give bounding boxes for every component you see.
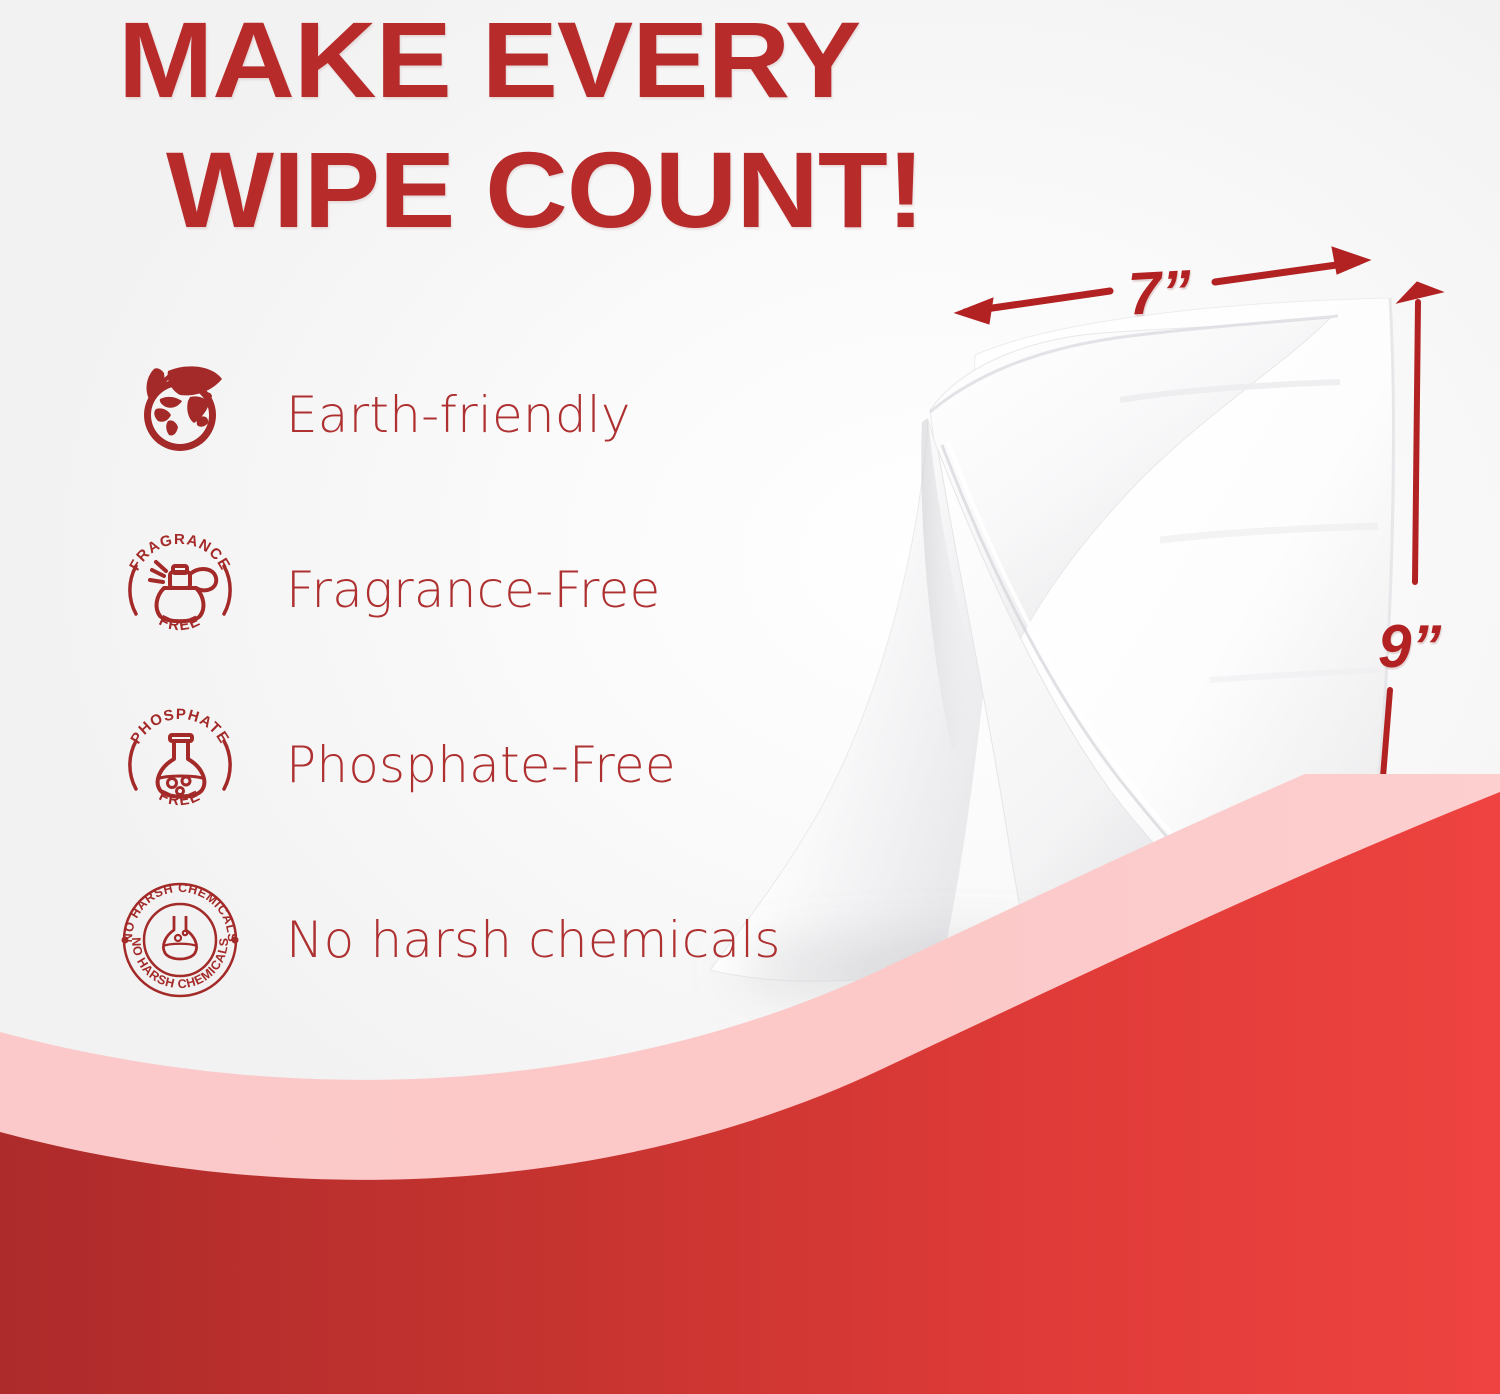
page-title: MAKE EVERY WIPE COUNT! [118,0,1128,244]
feature-label-no-harsh-chemicals: No harsh chemicals [286,911,781,969]
svg-text:NO HARSH CHEMICALS: NO HARSH CHEMICALS [121,881,239,943]
product-feature-graphic: MAKE EVERY WIPE COUNT! [0,0,1500,1394]
phosphate-badge-bottom-text: FREE [156,787,203,809]
fragrance-badge-bottom-text: FREE [156,612,203,634]
feature-list: Earth-friendly [110,345,910,1010]
feature-row-earth-friendly: Earth-friendly [110,345,910,485]
svg-text:FREE: FREE [156,787,203,809]
dimension-width-label: 7” [1126,256,1193,328]
dimension-height-label: 9” [1378,612,1441,681]
no-harsh-badge-top-text: NO HARSH CHEMICALS [121,881,239,943]
no-harsh-chemicals-icon: NO HARSH CHEMICALS NO HARSH CHEMICALS [110,870,250,1010]
fragrance-free-icon: FRAGRANCE FREE [110,520,250,660]
feature-label-fragrance-free: Fragrance-Free [286,561,660,619]
feature-row-no-harsh-chemicals: NO HARSH CHEMICALS NO HARSH CHEMICALS No… [110,870,910,1010]
svg-text:FREE: FREE [156,612,203,634]
feature-label-earth-friendly: Earth-friendly [286,386,631,444]
globe-leaf-icon [110,345,250,485]
phosphate-free-icon: PHOSPHATE FREE [110,695,250,835]
headline-line-1: MAKE EVERY [118,6,1189,114]
feature-row-phosphate-free: PHOSPHATE FREE Phosphate-Free [110,695,910,835]
feature-row-fragrance-free: FRAGRANCE FREE Fragrance-Free [110,520,910,660]
feature-label-phosphate-free: Phosphate-Free [286,736,676,794]
headline-line-2: WIPE COUNT! [166,136,1186,244]
product-shadow-right [1020,950,1440,1020]
